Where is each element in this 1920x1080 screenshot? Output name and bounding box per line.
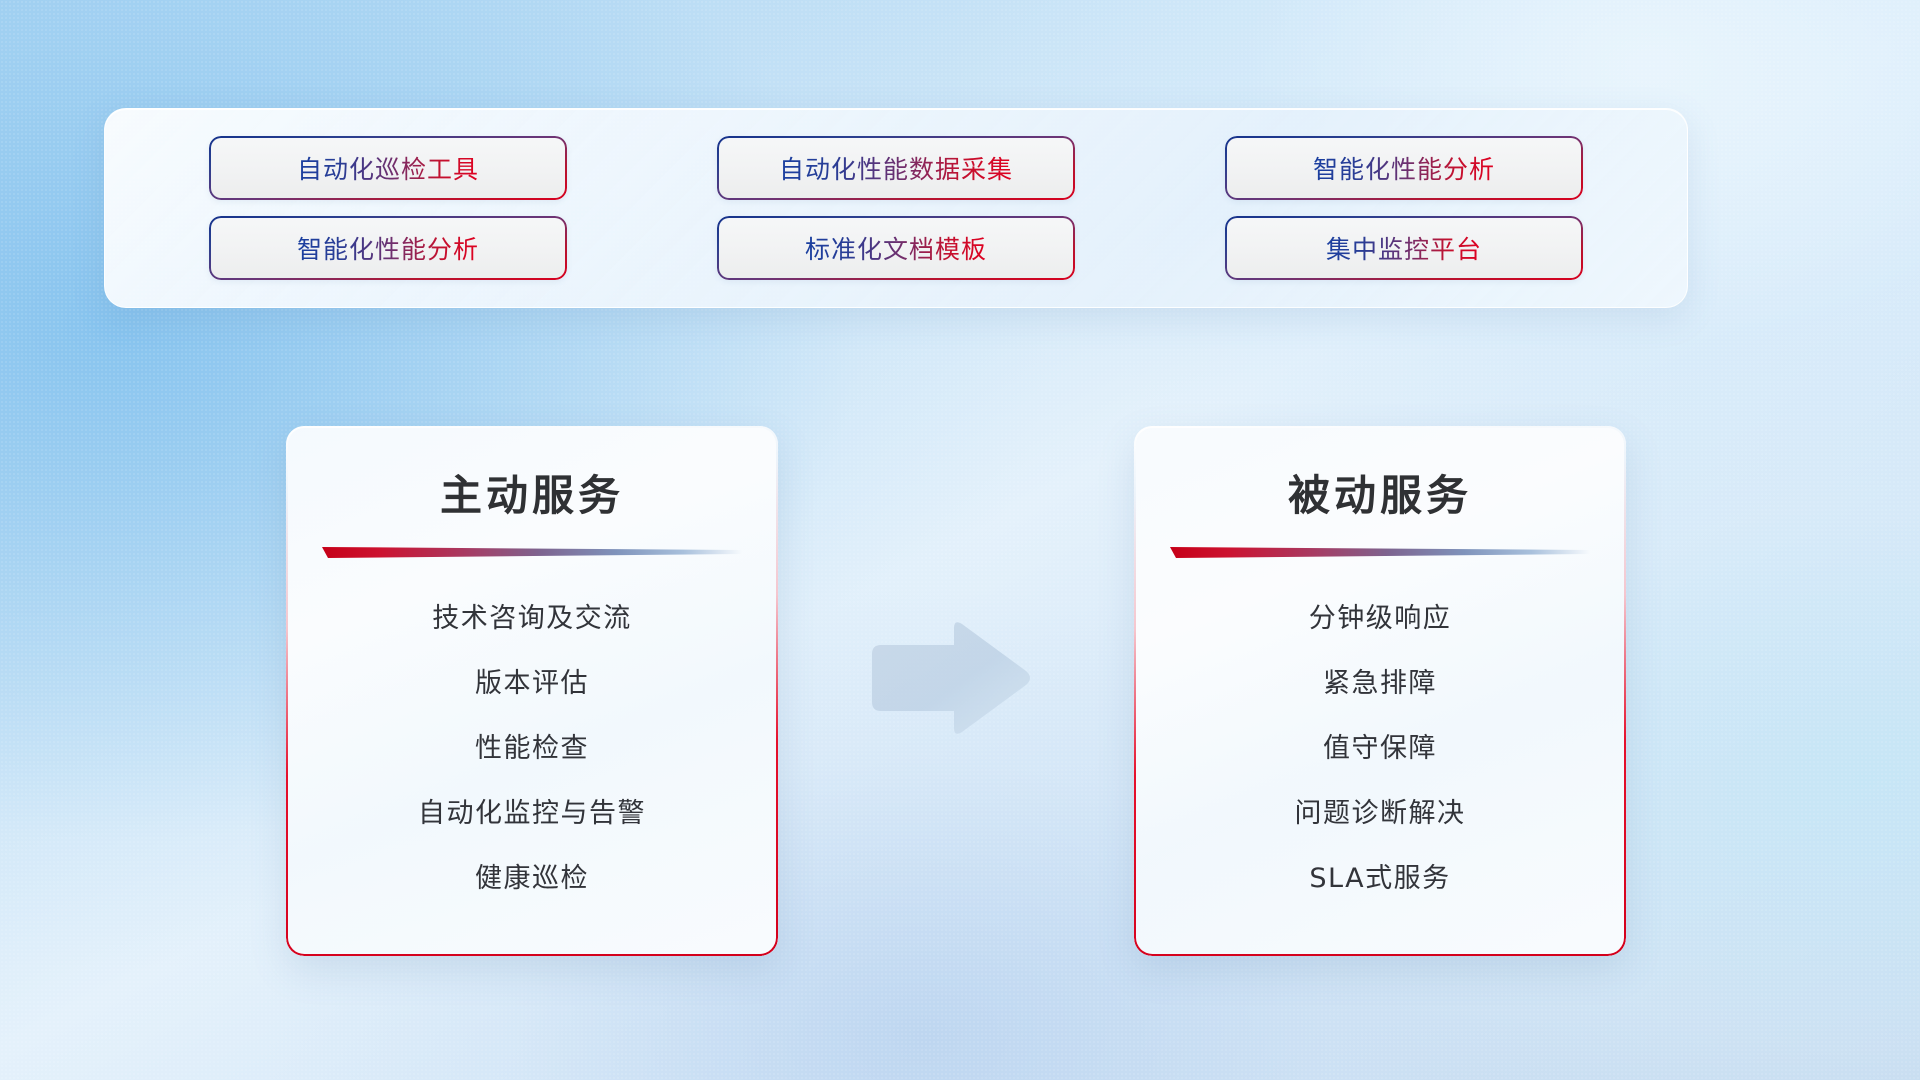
- service-card-reactive: 被动服务 分钟级响应 紧急排障 值守保障 问题诊断解决 SLA式服务: [1134, 426, 1626, 956]
- arrow-right-icon: [866, 618, 1034, 738]
- card-title: 被动服务: [1134, 462, 1626, 523]
- capability-tag-label: 智能化性能分析: [1313, 150, 1495, 186]
- card-list-item: 健康巡检: [286, 856, 778, 895]
- capability-tag-label: 智能化性能分析: [297, 230, 479, 266]
- capability-tag[interactable]: 标准化文档模板: [717, 216, 1075, 280]
- capability-tag-label: 集中监控平台: [1326, 230, 1482, 266]
- capability-tag[interactable]: 智能化性能分析: [1225, 136, 1583, 200]
- capabilities-panel: 自动化巡检工具 自动化性能数据采集 智能化性能分析 智能化性能分析 标准化文档模…: [104, 108, 1688, 308]
- card-list-item: 紧急排障: [1134, 661, 1626, 700]
- slide-canvas: 自动化巡检工具 自动化性能数据采集 智能化性能分析 智能化性能分析 标准化文档模…: [0, 0, 1920, 1080]
- capability-tag[interactable]: 集中监控平台: [1225, 216, 1583, 280]
- card-list-item: 自动化监控与告警: [286, 791, 778, 830]
- card-title: 主动服务: [286, 462, 778, 523]
- card-list-item: 问题诊断解决: [1134, 791, 1626, 830]
- card-divider: [322, 547, 742, 558]
- capability-tag[interactable]: 智能化性能分析: [209, 216, 567, 280]
- capability-tag-label: 自动化巡检工具: [297, 150, 479, 186]
- card-list-item: 性能检查: [286, 726, 778, 765]
- card-list-item: SLA式服务: [1134, 856, 1626, 895]
- card-item-list: 技术咨询及交流 版本评估 性能检查 自动化监控与告警 健康巡检: [286, 596, 778, 895]
- card-list-item: 版本评估: [286, 661, 778, 700]
- capability-tag[interactable]: 自动化巡检工具: [209, 136, 567, 200]
- capability-tag-label: 标准化文档模板: [805, 230, 987, 266]
- capability-tag-label: 自动化性能数据采集: [779, 150, 1013, 186]
- service-card-proactive: 主动服务 技术咨询及交流 版本评估 性能检查 自动化监控与告警 健康巡检: [286, 426, 778, 956]
- card-list-item: 值守保障: [1134, 726, 1626, 765]
- card-list-item: 技术咨询及交流: [286, 596, 778, 635]
- card-divider: [1170, 547, 1590, 558]
- card-list-item: 分钟级响应: [1134, 596, 1626, 635]
- capability-tag[interactable]: 自动化性能数据采集: [717, 136, 1075, 200]
- card-item-list: 分钟级响应 紧急排障 值守保障 问题诊断解决 SLA式服务: [1134, 596, 1626, 895]
